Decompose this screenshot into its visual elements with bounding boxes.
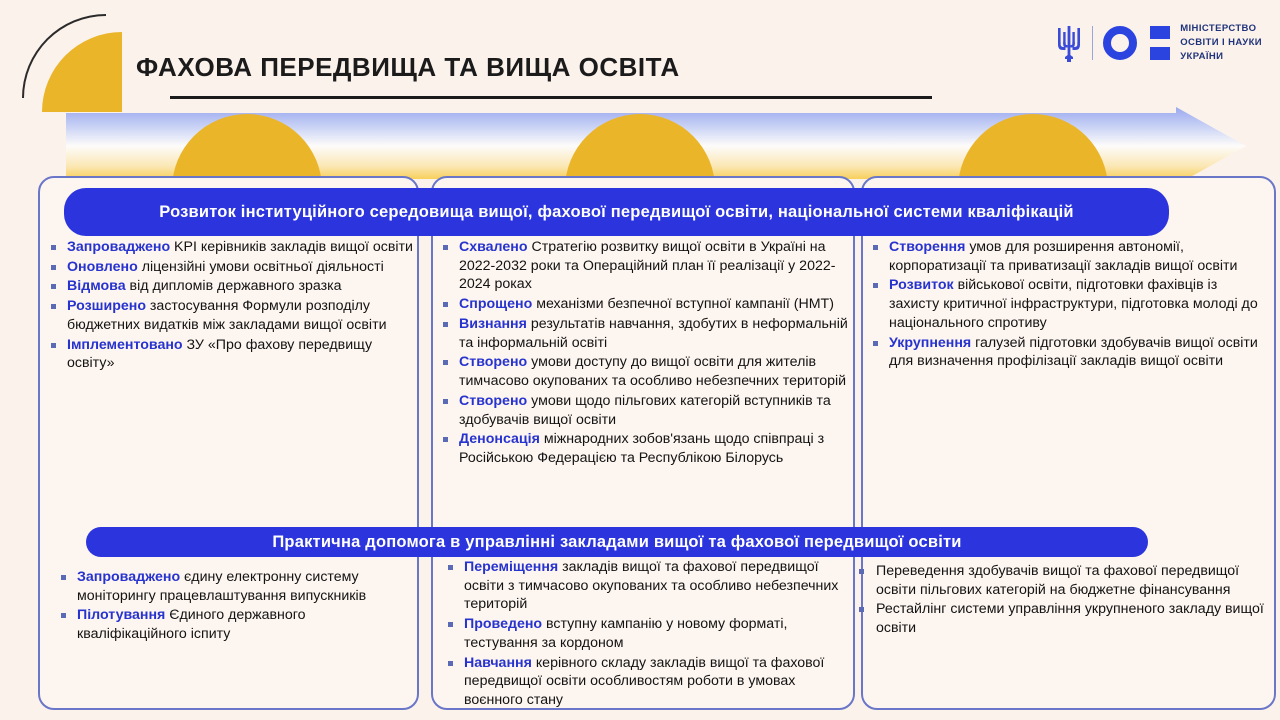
list-item-lead: Оновлено [67,259,138,275]
list-item-lead: Проведено [464,616,542,632]
list-item-lead: Визнання [459,316,527,332]
section-banner-institutional-environment: Розвиток інституційного середовища вищої… [64,188,1169,236]
bullet-list-top-2020-2021: Запроваджено KPI керівників закладів вищ… [48,238,413,374]
section-banner-practical-help: Практична допомога в управлінні закладам… [86,527,1148,557]
list-item: Проведено вступну кампанію у новому форм… [445,615,845,652]
list-item: Розширено застосування Формули розподілу… [48,297,413,334]
list-item-lead: Створення [889,239,965,255]
title-underline-rule [170,96,932,99]
list-item-lead: Денонсація [459,431,540,447]
list-item-text: Рестайлінг системи управління укрупненог… [876,601,1264,636]
logo-text-line-3: УКРАЇНИ [1180,50,1262,64]
logo-text-line-1: МІНІСТЕРСТВО [1180,22,1262,36]
list-item: Визнання результатів навчання, здобутих … [440,315,852,352]
decorative-corner-mark [14,6,124,116]
list-item: Схвалено Стратегію розвитку вищої освіти… [440,238,852,294]
list-item: Створено умови щодо пільгових категорій … [440,392,852,429]
bullet-list-bottom-2023: Переведення здобувачів вищої та фахової … [862,562,1264,639]
list-item: Імплементовано ЗУ «Про фахову передвищу … [48,336,413,373]
logo-divider [1092,26,1093,60]
list-items: Запроваджено єдину електронну систему мо… [58,568,403,644]
ukraine-trident-icon [1056,23,1082,63]
list-item-text: від дипломів державного зразка [126,278,342,294]
list-items: Запроваджено KPI керівників закладів вищ… [48,238,413,373]
list-items: Схвалено Стратегію розвитку вищої освіти… [440,238,852,468]
list-item-lead: Запроваджено [67,239,170,255]
corner-outline-quarter [22,14,106,98]
list-item-text: ліцензійні умови освітньої діяльності [138,259,384,275]
list-item-lead: Створено [459,393,527,409]
list-item-text: KPI керівників закладів вищої освіти [170,239,413,255]
list-item-lead: Імплементовано [67,337,183,353]
list-item-lead: Відмова [67,278,126,294]
bullet-list-bottom-2022: Переміщення закладів вищої та фахової пе… [445,558,845,711]
list-item-lead: Створено [459,354,527,370]
list-item-lead: Спрощено [459,296,532,312]
bullet-list-top-2022: Схвалено Стратегію розвитку вищої освіти… [440,238,852,469]
bullet-list-top-2023: Створення умов для розширення автономії,… [870,238,1270,372]
list-item: Відмова від дипломів державного зразка [48,277,413,296]
list-item-text: Переведення здобувачів вищої та фахової … [876,563,1239,598]
list-item: Переведення здобувачів вищої та фахової … [862,562,1264,599]
bullet-list-bottom-2020-2021: Запроваджено єдину електронну систему мо… [58,568,403,645]
ministry-logo: МІНІСТЕРСТВО ОСВІТИ І НАУКИ УКРАЇНИ [1056,22,1262,63]
list-item: Навчання керівного складу закладів вищої… [445,654,845,710]
list-item: Створення умов для розширення автономії,… [870,238,1270,275]
list-item: Оновлено ліцензійні умови освітньої діял… [48,258,413,277]
list-item: Укрупнення галузей підготовки здобувачів… [870,334,1270,371]
list-items: Переведення здобувачів вищої та фахової … [862,562,1264,638]
list-item-lead: Пілотування [77,607,165,623]
list-item: Спрощено механізми безпечної вступної ка… [440,295,852,314]
list-item-lead: Розвиток [889,277,954,293]
list-item: Денонсація міжнародних зобов'язань щодо … [440,430,852,467]
list-items: Створення умов для розширення автономії,… [870,238,1270,371]
list-item-lead: Запроваджено [77,569,180,585]
list-item-lead: Переміщення [464,559,558,575]
list-item: Рестайлінг системи управління укрупненог… [862,600,1264,637]
list-item-lead: Схвалено [459,239,528,255]
list-items: Переміщення закладів вищої та фахової пе… [445,558,845,710]
logo-text-line-2: ОСВІТИ І НАУКИ [1180,36,1262,50]
list-item: Переміщення закладів вищої та фахової пе… [445,558,845,614]
list-item-text: механізми безпечної вступної кампанії (Н… [532,296,834,312]
list-item-lead: Укрупнення [889,335,971,351]
list-item: Пілотування Єдиного державного кваліфіка… [58,606,403,643]
list-item: Запроваджено KPI керівників закладів вищ… [48,238,413,257]
list-item-lead: Розширено [67,298,146,314]
list-item-lead: Навчання [464,655,532,671]
list-item: Створено умови доступу до вищої освіти д… [440,353,852,390]
page-title: ФАХОВА ПЕРЕДВИЩА ТА ВИЩА ОСВІТА [136,52,680,83]
ministry-logo-text: МІНІСТЕРСТВО ОСВІТИ І НАУКИ УКРАЇНИ [1180,22,1262,63]
list-item: Запроваджено єдину електронну систему мо… [58,568,403,605]
logo-o-mark [1103,26,1137,60]
logo-equals-mark [1150,26,1170,60]
list-item: Розвиток військової освіти, підготовки ф… [870,276,1270,332]
